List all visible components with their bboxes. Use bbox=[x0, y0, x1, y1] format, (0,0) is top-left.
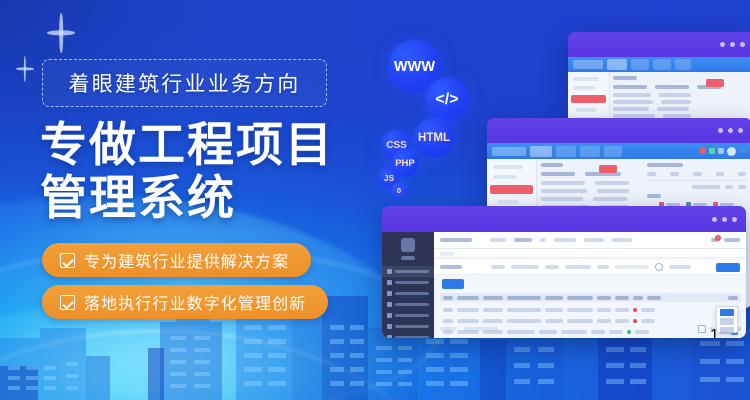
app-tab[interactable] bbox=[653, 59, 671, 70]
checkbox-checked-icon bbox=[60, 253, 75, 268]
chart-toolbar bbox=[647, 185, 746, 189]
table-row[interactable] bbox=[440, 316, 741, 325]
settings-icon[interactable] bbox=[718, 148, 724, 154]
search-icon[interactable] bbox=[655, 263, 663, 271]
filter-field[interactable] bbox=[693, 172, 702, 176]
sidebar-item[interactable] bbox=[382, 288, 434, 299]
message-icon[interactable] bbox=[709, 148, 715, 154]
context-menu[interactable] bbox=[716, 306, 738, 333]
nav-item[interactable] bbox=[554, 238, 576, 242]
table-row[interactable] bbox=[613, 93, 750, 97]
feature-pill-1[interactable]: 专为建筑行业提供解决方案 bbox=[42, 243, 311, 277]
app-sidebar bbox=[382, 232, 434, 338]
table-row[interactable] bbox=[541, 197, 641, 201]
filter-label bbox=[597, 265, 609, 269]
table-title bbox=[541, 163, 563, 167]
filter-label bbox=[669, 265, 691, 269]
chart-title bbox=[647, 194, 661, 198]
tagline-text: 着眼建筑行业业务方向 bbox=[69, 68, 301, 98]
building-silhouette bbox=[368, 328, 418, 400]
building-silhouette bbox=[148, 348, 164, 400]
footer-label bbox=[440, 327, 456, 331]
notification-icon[interactable]: 1 bbox=[711, 238, 718, 242]
window-dot-icon[interactable] bbox=[718, 128, 723, 133]
chevron-down-icon[interactable] bbox=[540, 238, 546, 242]
feature-pill-1-label: 专为建筑行业提供解决方案 bbox=[84, 248, 289, 272]
window-titlebar bbox=[382, 206, 746, 232]
window-dot-icon[interactable] bbox=[712, 217, 717, 222]
checkbox-checked-icon bbox=[60, 295, 75, 310]
tree-node[interactable] bbox=[576, 108, 596, 112]
new-button[interactable] bbox=[442, 279, 464, 289]
sidebar-item-icon bbox=[387, 313, 392, 318]
app-tab[interactable] bbox=[580, 146, 600, 157]
window-dot-icon[interactable] bbox=[738, 128, 743, 133]
window-dot-icon[interactable] bbox=[740, 42, 745, 47]
chart-toolbar-label bbox=[692, 185, 720, 189]
building-silhouette bbox=[40, 328, 86, 338]
chart-toolbar-icon[interactable] bbox=[738, 185, 746, 189]
table-header-row bbox=[613, 85, 750, 89]
status-dot bbox=[633, 319, 637, 323]
filter-row bbox=[647, 172, 746, 181]
filter-field[interactable] bbox=[738, 172, 746, 176]
filter-label bbox=[440, 265, 462, 269]
primary-button[interactable] bbox=[706, 79, 724, 87]
filter-select[interactable] bbox=[565, 265, 591, 269]
app-header bbox=[487, 143, 750, 159]
sidebar-item[interactable] bbox=[382, 266, 434, 277]
username-label[interactable] bbox=[724, 238, 740, 242]
search-input[interactable] bbox=[615, 265, 649, 269]
contract-table-window[interactable]: 1 bbox=[382, 206, 746, 338]
menu-item[interactable] bbox=[720, 327, 734, 334]
pagination-page[interactable]: 1 bbox=[710, 327, 714, 331]
filter-field[interactable] bbox=[716, 172, 724, 176]
app-logo bbox=[492, 147, 526, 156]
tree-node[interactable] bbox=[573, 77, 599, 81]
sparkle-star-icon bbox=[47, 13, 75, 53]
filter-field[interactable] bbox=[647, 172, 656, 176]
bubble-zero: 0 bbox=[391, 182, 407, 198]
avatar[interactable] bbox=[727, 147, 736, 156]
nav-item[interactable] bbox=[584, 238, 604, 242]
tree-node-selected[interactable] bbox=[490, 185, 533, 194]
app-tab[interactable] bbox=[604, 146, 622, 157]
sidebar-item[interactable] bbox=[382, 277, 434, 288]
sidebar-title bbox=[401, 256, 415, 260]
chart-panel-title bbox=[647, 163, 683, 167]
sidebar-item-icon bbox=[387, 269, 392, 274]
chart-toolbar-icon[interactable] bbox=[725, 185, 733, 189]
app-tab[interactable] bbox=[675, 59, 691, 70]
filter-bar bbox=[434, 260, 746, 275]
app-logo bbox=[573, 60, 603, 69]
sidebar-item[interactable] bbox=[382, 321, 434, 332]
table-row[interactable] bbox=[613, 100, 750, 104]
nav-item[interactable] bbox=[612, 238, 632, 242]
app-tab[interactable] bbox=[556, 146, 576, 157]
filter-field[interactable] bbox=[670, 172, 679, 176]
table-row[interactable] bbox=[613, 107, 750, 111]
sidebar-item[interactable] bbox=[382, 299, 434, 310]
window-dot-icon[interactable] bbox=[732, 217, 737, 222]
bubble-code: </> bbox=[425, 78, 469, 122]
table-row[interactable] bbox=[541, 189, 641, 193]
building-silhouette bbox=[0, 366, 38, 400]
app-tab[interactable] bbox=[607, 59, 627, 70]
app-logo-icon bbox=[401, 238, 415, 252]
search-button[interactable] bbox=[716, 263, 740, 272]
nav-item[interactable] bbox=[490, 238, 506, 242]
app-header-actions bbox=[700, 147, 747, 156]
headline-line-2: 管理系统 bbox=[40, 171, 380, 224]
tree-node[interactable] bbox=[493, 165, 523, 169]
menu-item[interactable] bbox=[720, 309, 734, 316]
table-footer: 1 bbox=[440, 325, 741, 333]
building-silhouette bbox=[292, 314, 322, 400]
footer-summary bbox=[464, 327, 498, 331]
app-header bbox=[568, 57, 750, 72]
filter-select[interactable] bbox=[511, 265, 539, 269]
table-row[interactable] bbox=[541, 181, 641, 185]
building-silhouette bbox=[86, 356, 110, 400]
filter-label bbox=[545, 265, 559, 269]
notification-icon[interactable] bbox=[700, 148, 706, 154]
tree-node[interactable] bbox=[493, 175, 517, 179]
window-dot-icon[interactable] bbox=[730, 42, 735, 47]
table-row[interactable] bbox=[440, 305, 741, 314]
window-dot-icon[interactable] bbox=[728, 128, 733, 133]
table-title bbox=[613, 76, 637, 80]
window-titlebar bbox=[487, 118, 750, 143]
table-header-row bbox=[541, 172, 641, 176]
window-body: 1 bbox=[382, 232, 746, 338]
window-dot-icon[interactable] bbox=[722, 217, 727, 222]
sidebar-item[interactable] bbox=[382, 332, 434, 338]
page-title bbox=[440, 238, 472, 242]
nav-menu bbox=[490, 238, 632, 242]
feature-pill-2[interactable]: 落地执行行业数字化管理创新 bbox=[42, 285, 328, 319]
tree-node[interactable] bbox=[497, 200, 519, 204]
page-title: 专做工程项目 管理系统 bbox=[40, 118, 380, 224]
pagination-prev[interactable] bbox=[698, 325, 706, 333]
nav-item-active[interactable] bbox=[514, 238, 532, 242]
sidebar-item-icon bbox=[387, 335, 392, 338]
sidebar-item-icon bbox=[387, 302, 392, 307]
primary-button[interactable] bbox=[599, 165, 617, 173]
feature-pill-2-label: 落地执行行业数字化管理创新 bbox=[84, 290, 306, 314]
banner-canvas: 着眼建筑行业业务方向 专做工程项目 管理系统 专为建筑行业提供解决方案 落地执行… bbox=[0, 0, 750, 400]
sidebar-item-icon bbox=[387, 324, 392, 329]
tree-node-selected[interactable] bbox=[571, 95, 606, 103]
status-badge: 1 bbox=[715, 235, 721, 241]
sidebar-item[interactable] bbox=[382, 310, 434, 321]
app-tab[interactable] bbox=[631, 59, 649, 70]
sidebar-item-icon bbox=[387, 291, 392, 296]
status-dot bbox=[633, 308, 637, 312]
sidebar-item-icon bbox=[387, 280, 392, 285]
building-silhouette bbox=[480, 340, 506, 400]
bubble-html: HTML bbox=[414, 118, 454, 158]
sparkle-star-icon bbox=[16, 56, 34, 82]
window-titlebar bbox=[568, 32, 750, 57]
headline-line-1: 专做工程项目 bbox=[40, 118, 380, 171]
username-label bbox=[739, 149, 747, 153]
breadcrumb bbox=[434, 249, 746, 258]
nav-actions: 1 bbox=[711, 238, 740, 242]
window-dot-icon[interactable] bbox=[720, 42, 725, 47]
menu-item[interactable] bbox=[720, 318, 734, 325]
filter-label bbox=[491, 265, 505, 269]
tagline-box: 着眼建筑行业业务方向 bbox=[42, 59, 327, 107]
table-header-row bbox=[440, 293, 741, 302]
tree-node[interactable] bbox=[573, 86, 595, 90]
top-nav: 1 bbox=[434, 232, 746, 249]
app-tab[interactable] bbox=[530, 146, 552, 157]
